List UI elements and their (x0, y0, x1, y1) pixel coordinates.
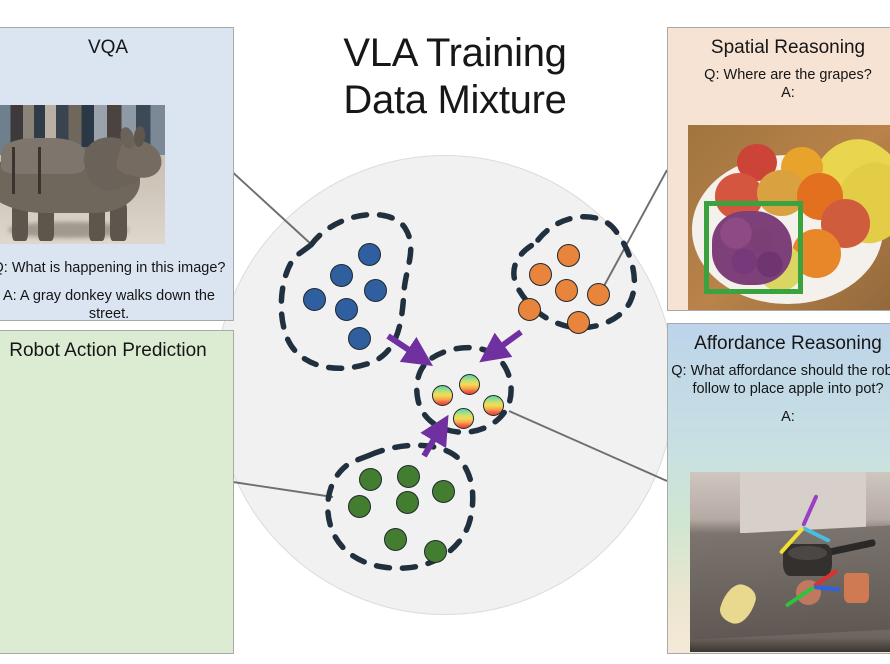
data-point-blue (330, 264, 353, 287)
cluster-outline-robot (328, 445, 473, 568)
data-point-mixed (453, 408, 474, 429)
cluster-outlines (281, 215, 634, 569)
data-point-blue (348, 327, 371, 350)
panel-affordance-reasoning[interactable]: Affordance Reasoning Q: What affordance … (667, 323, 890, 654)
data-point-orange (567, 311, 590, 334)
panel-vqa-title: VQA (0, 37, 233, 59)
cluster-outline-mixture (417, 348, 511, 433)
panel-robot-title: Robot Action Prediction (0, 340, 233, 362)
vqa-image (0, 105, 165, 244)
data-point-blue (335, 298, 358, 321)
data-point-green (424, 540, 447, 563)
data-point-green (359, 468, 382, 491)
connector-vqa (228, 168, 312, 245)
data-point-orange (529, 263, 552, 286)
data-point-blue (364, 279, 387, 302)
panel-affordance-title: Affordance Reasoning (668, 333, 890, 355)
data-point-blue (303, 288, 326, 311)
affordance-question-line1: Q: What affordance should the robot (668, 362, 890, 380)
connector-lines (228, 168, 667, 497)
connector-robot (233, 482, 333, 497)
spatial-answer: A: (668, 84, 890, 102)
data-point-orange (587, 283, 610, 306)
panel-spatial-reasoning[interactable]: Spatial Reasoning Q: Where are the grape… (667, 27, 890, 311)
spatial-question: Q: Where are the grapes? (668, 66, 890, 84)
data-point-green (396, 491, 419, 514)
title-line-2: Data Mixture (300, 77, 610, 124)
data-point-green (432, 480, 455, 503)
spatial-image (688, 125, 890, 311)
arrow-green-to-mixture (424, 424, 443, 456)
connector-affordance (509, 411, 667, 481)
data-point-blue (358, 243, 381, 266)
cluster-outline-spatial (514, 217, 635, 328)
panel-spatial-title: Spatial Reasoning (668, 37, 890, 59)
data-point-orange (557, 244, 580, 267)
data-point-orange (555, 279, 578, 302)
data-point-green (384, 528, 407, 551)
page-title: VLA Training Data Mixture (300, 30, 610, 124)
cluster-outline-vqa (281, 215, 410, 369)
data-point-mixed (432, 385, 453, 406)
affordance-image (690, 472, 890, 652)
data-point-green (397, 465, 420, 488)
panel-robot-action-prediction[interactable]: Robot Action Prediction Q: What should t… (0, 330, 234, 654)
panel-vqa[interactable]: VQA Q: What is happening in this image? … (0, 27, 234, 321)
vqa-answer: A: A gray donkey walks down the street. (0, 287, 234, 321)
arrow-orange-to-mixture (488, 332, 521, 356)
connector-spatial (604, 170, 667, 286)
grapes-bounding-box (704, 201, 804, 294)
data-point-mixed (483, 395, 504, 416)
affordance-question-line2: follow to place apple into pot? (668, 380, 890, 398)
arrow-blue-to-mixture (388, 336, 424, 360)
data-point-mixed (459, 374, 480, 395)
mixture-circle (215, 155, 675, 615)
title-line-1: VLA Training (300, 30, 610, 77)
affordance-answer: A: (668, 408, 890, 426)
data-point-green (348, 495, 371, 518)
mixture-arrows (388, 332, 521, 456)
vqa-question: Q: What is happening in this image? (0, 259, 234, 277)
data-point-orange (518, 298, 541, 321)
